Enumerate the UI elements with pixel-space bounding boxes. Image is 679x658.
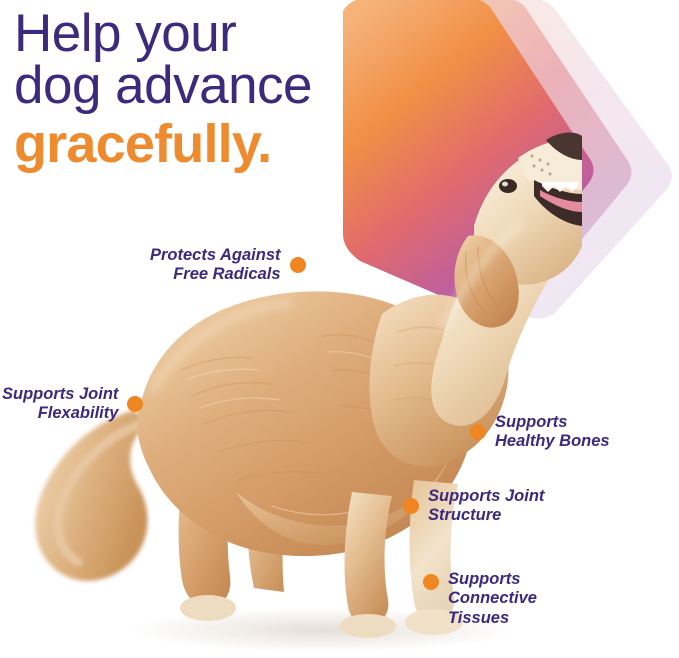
callout-free-radicals: Protects Against Free Radicals: [150, 246, 306, 285]
bullet-dot-icon: [127, 396, 143, 412]
callout-joint-structure: Supports Joint Structure: [403, 487, 544, 526]
chevron-decoration-mid: [278, 0, 638, 318]
callout-healthy-bones-label: Supports Healthy Bones: [495, 413, 610, 452]
headline-line-2: dog advance: [14, 60, 312, 112]
promo-banner: Help your dog advance gracefully.: [0, 0, 679, 658]
headline-accent: gracefully.: [14, 118, 312, 171]
callout-joint-flexability-label: Supports Joint Flexability: [2, 385, 118, 424]
bullet-dot-icon: [470, 424, 486, 440]
bullet-dot-icon: [290, 257, 306, 273]
callout-joint-structure-label: Supports Joint Structure: [428, 487, 544, 526]
headline-line-1: Help your: [14, 8, 312, 60]
bullet-dot-icon: [423, 574, 439, 590]
page-title: Help your dog advance gracefully.: [14, 8, 312, 171]
callout-joint-flexability: Supports Joint Flexability: [2, 385, 143, 424]
callout-healthy-bones: Supports Healthy Bones: [470, 413, 610, 452]
callout-connective-tissues: Supports Connective Tissues: [423, 570, 537, 628]
chevron-decoration-back: [300, 0, 679, 324]
bullet-dot-icon: [403, 498, 419, 514]
callout-free-radicals-label: Protects Against Free Radicals: [150, 246, 281, 285]
callout-connective-tissues-label: Supports Connective Tissues: [448, 570, 537, 628]
